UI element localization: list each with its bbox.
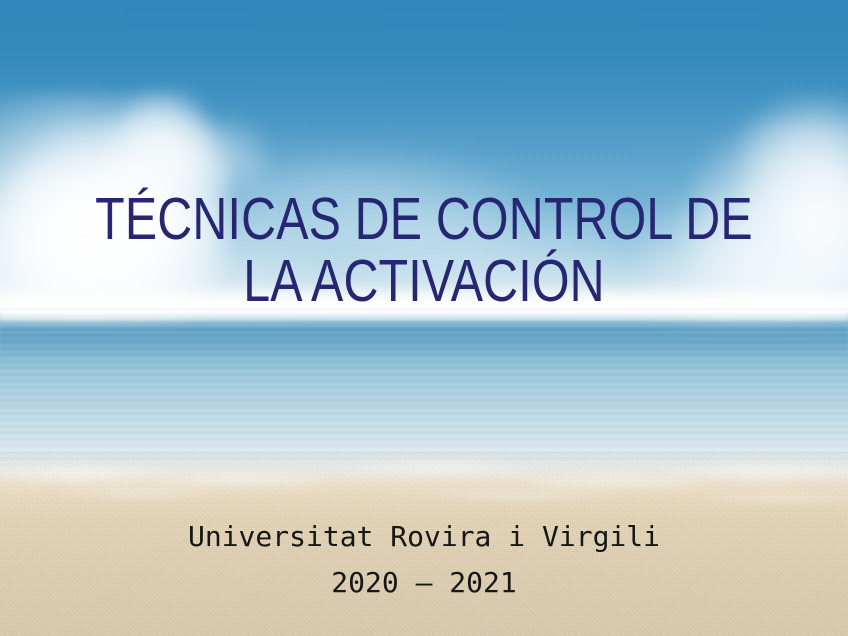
title-slide: TÉCNICAS DE CONTROL DE LA ACTIVACIÓN Uni…	[0, 0, 848, 636]
slide-title: TÉCNICAS DE CONTROL DE LA ACTIVACIÓN	[0, 188, 848, 312]
sea-streak-texture	[0, 305, 848, 465]
subtitle-institution: Universitat Rovira i Virgili	[0, 514, 848, 560]
slide-subtitle: Universitat Rovira i Virgili 2020 – 2021	[0, 514, 848, 606]
slide-title-line-1: TÉCNICAS DE CONTROL DE	[76, 188, 771, 250]
subtitle-academic-year: 2020 – 2021	[0, 560, 848, 606]
slide-title-line-2: LA ACTIVACIÓN	[76, 250, 771, 312]
